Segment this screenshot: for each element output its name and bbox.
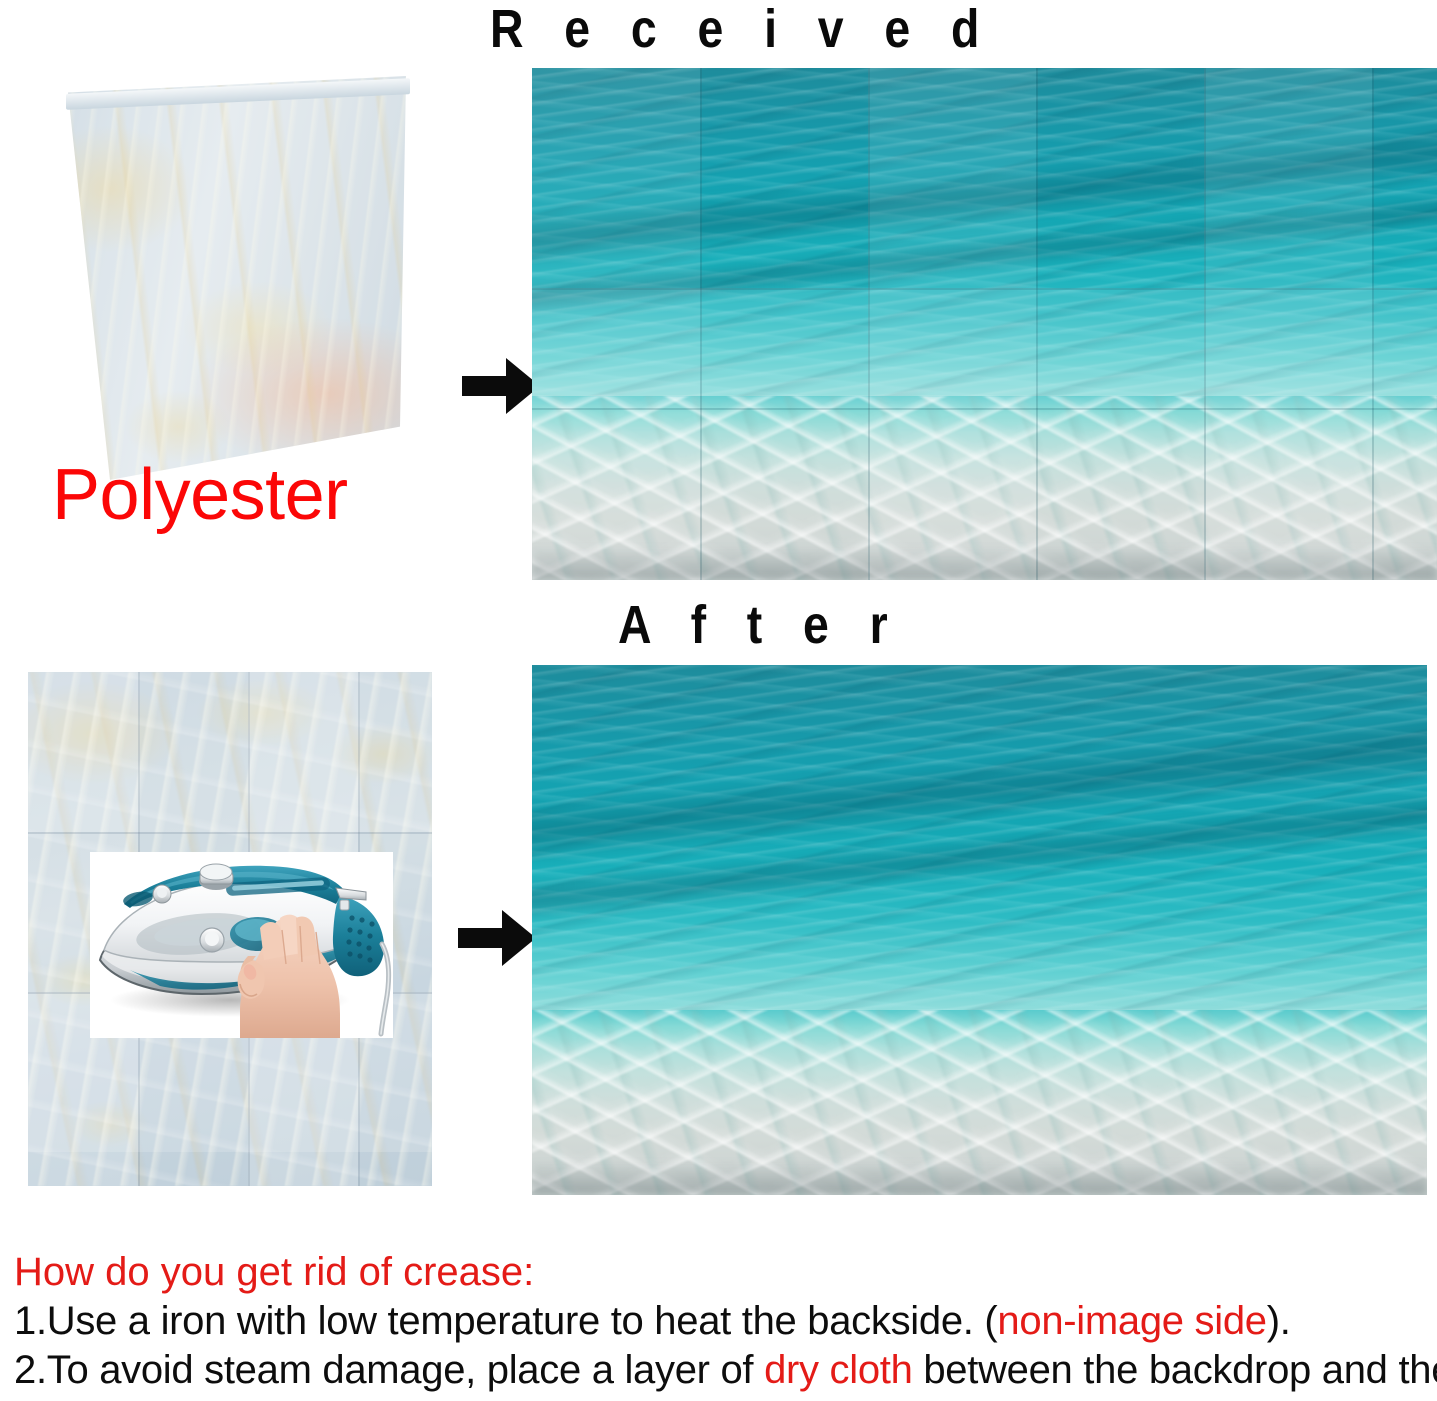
instruction-line-2-highlight: dry cloth <box>764 1348 912 1392</box>
steam-iron-illustration <box>90 852 393 1038</box>
instruction-line-1: 1.Use a iron with low temperature to hea… <box>14 1297 1432 1346</box>
fabric-marble-veining <box>14 74 414 484</box>
section-title-after: A f t e r <box>618 598 902 652</box>
polyester-material-label: Polyester <box>52 459 348 531</box>
folded-fabric-photo <box>14 74 414 484</box>
received-deep-water <box>532 68 1437 406</box>
right-arrow-icon <box>458 908 536 968</box>
crease-removal-instructions: How do you get rid of crease: 1.Use a ir… <box>14 1248 1432 1394</box>
instructions-heading: How do you get rid of crease: <box>14 1248 1432 1297</box>
steam-iron-photo <box>90 852 393 1038</box>
instruction-line-1-part1: 1.Use a iron with low temperature to hea… <box>14 1299 997 1343</box>
section-title-received: R e c e i v e d <box>490 2 993 56</box>
received-seafloor-shadow <box>532 547 1437 580</box>
right-arrow-icon <box>462 356 540 416</box>
instruction-line-2: 2.To avoid steam damage, place a layer o… <box>14 1346 1432 1395</box>
instruction-line-1-highlight: non-image side <box>997 1299 1266 1343</box>
after-deep-water <box>532 665 1427 1020</box>
instruction-line-1-part2: ). <box>1267 1299 1291 1343</box>
instruction-line-2-part2: between the backdrop and the iron. <box>913 1348 1437 1392</box>
received-ocean-photo <box>532 68 1437 580</box>
after-ocean-photo <box>532 665 1427 1195</box>
received-shallow-water <box>532 396 1437 580</box>
after-shallow-water <box>532 1010 1427 1196</box>
after-seafloor-shadow <box>532 1162 1427 1195</box>
instruction-line-2-part1: 2.To avoid steam damage, place a layer o… <box>14 1348 764 1392</box>
